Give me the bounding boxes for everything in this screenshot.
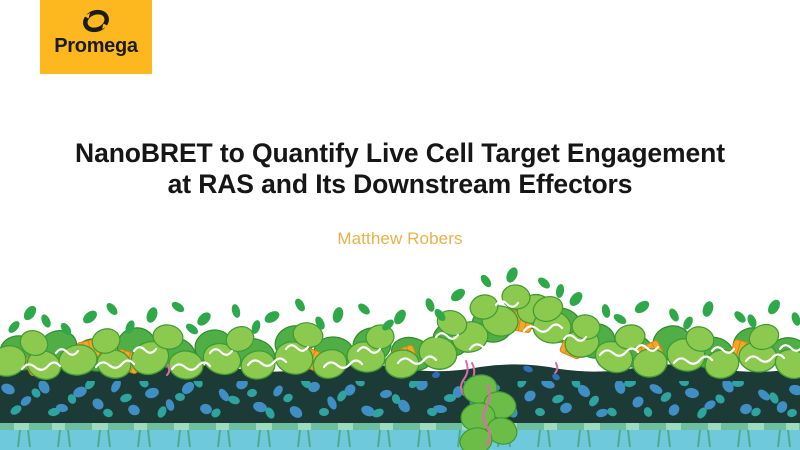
title-line-1: NanoBRET to Quantify Live Cell Target En…	[0, 138, 800, 169]
title-line-2: at RAS and Its Downstream Effectors	[0, 169, 800, 200]
membrane-graphic	[0, 265, 800, 450]
promega-logo: Promega	[40, 0, 152, 74]
author-name: Matthew Robers	[0, 229, 800, 249]
promega-ring-mark	[81, 9, 111, 33]
page-title: NanoBRET to Quantify Live Cell Target En…	[0, 138, 800, 200]
cell-membrane-illustration	[0, 265, 800, 450]
promega-wordmark: Promega	[54, 36, 138, 56]
slide-canvas: Promega NanoBRET to Quantify Live Cell T…	[0, 0, 800, 450]
